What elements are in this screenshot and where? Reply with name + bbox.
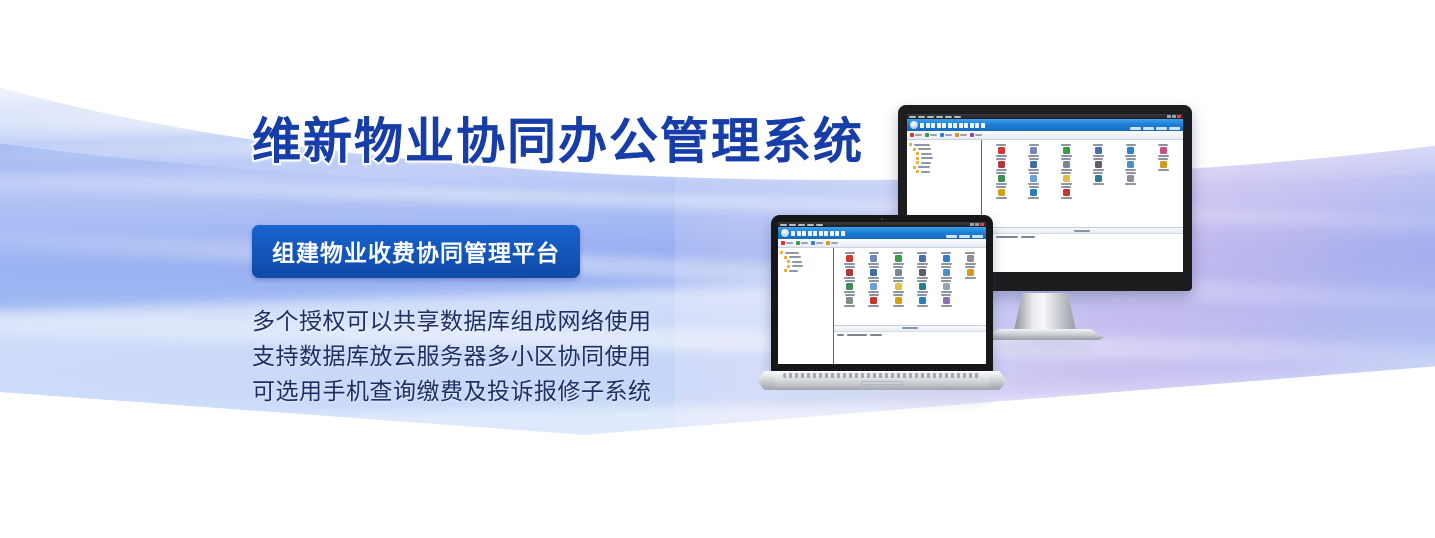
promo-banner: 维新物业协同办公管理系统 维新物业协同办公管理系统 组建物业收费协同管理平台 多… [0,0,1435,538]
laptop-header-actions [946,235,983,238]
module-tile [959,266,982,279]
module-tile [1018,144,1049,157]
monitor-list-panel [982,227,1183,272]
module-tile [886,252,909,265]
laptop-tree-panel [778,248,834,364]
monitor-toolbar [907,131,1183,140]
laptop-reflection [773,391,991,413]
module-tile [838,252,861,265]
table-row [982,234,1183,240]
laptop-trackpad [861,381,903,385]
monitor-window-controls [1167,115,1181,118]
monitor-list-header [982,228,1183,234]
laptop-module-grid [834,248,986,325]
module-tile [1115,172,1146,185]
notebook-laptop [757,215,1007,405]
module-tile [911,294,934,307]
module-tile [1115,186,1146,199]
module-tile [1148,144,1179,157]
module-tile [1083,144,1114,157]
monitor-app-title [920,123,985,128]
module-tile [1018,158,1049,171]
module-tile [1050,172,1081,185]
module-tile [986,172,1017,185]
module-tile [1083,186,1114,199]
module-tile [935,294,958,307]
module-tile [911,266,934,279]
app-logo-icon [910,121,918,129]
module-tile [959,252,982,265]
laptop-screen [778,222,986,364]
module-tile [862,252,885,265]
subtitle-badge: 组建物业收费协同管理平台 [252,225,580,278]
laptop-list-panel [834,325,986,364]
monitor-reflection [995,341,1095,359]
module-tile [1148,186,1179,199]
laptop-window-controls [970,223,984,226]
module-tile [1148,158,1179,171]
laptop-keyboard [783,373,981,378]
module-tile [838,266,861,279]
module-tile [862,266,885,279]
module-tile [986,144,1017,157]
module-tile [935,280,958,293]
laptop-module-grid-wrap [834,248,986,364]
module-tile [986,158,1017,171]
monitor-menu-items [909,116,961,118]
monitor-app-header [907,119,1183,131]
laptop-app-body [778,248,986,364]
module-tile [1050,158,1081,171]
laptop-camera-icon [881,218,883,220]
monitor-header-actions [1130,127,1180,130]
module-tile [1148,172,1179,185]
module-tile [1018,186,1049,199]
module-tile [1115,158,1146,171]
module-tile [935,252,958,265]
module-tile [959,280,982,293]
laptop-toolbar [778,239,986,248]
module-tile [838,280,861,293]
module-tile [986,186,1017,199]
module-tile [911,252,934,265]
laptop-app-title [791,231,845,236]
table-row [834,332,986,338]
app-logo-icon [781,229,789,237]
laptop-foot-left [761,375,775,388]
monitor-stand-neck [1014,293,1076,331]
laptop-list-header [834,326,986,332]
laptop-app-header [778,227,986,239]
module-tile [1083,158,1114,171]
module-tile [935,266,958,279]
module-tile [1050,144,1081,157]
module-tile [1083,172,1114,185]
monitor-module-grid [982,140,1183,227]
module-tile [862,280,885,293]
module-tile [1115,144,1146,157]
laptop-menu-items [780,224,823,226]
module-tile [886,280,909,293]
module-tile [838,294,861,307]
module-tile [862,294,885,307]
laptop-foot-right [989,375,1003,388]
module-tile [1050,186,1081,199]
device-mockups [735,95,1215,515]
module-tile [1018,172,1049,185]
module-tile [886,294,909,307]
monitor-module-grid-wrap [982,140,1183,272]
module-tile [959,294,982,307]
module-tile [911,280,934,293]
laptop-lid [771,215,993,373]
module-tile [886,266,909,279]
